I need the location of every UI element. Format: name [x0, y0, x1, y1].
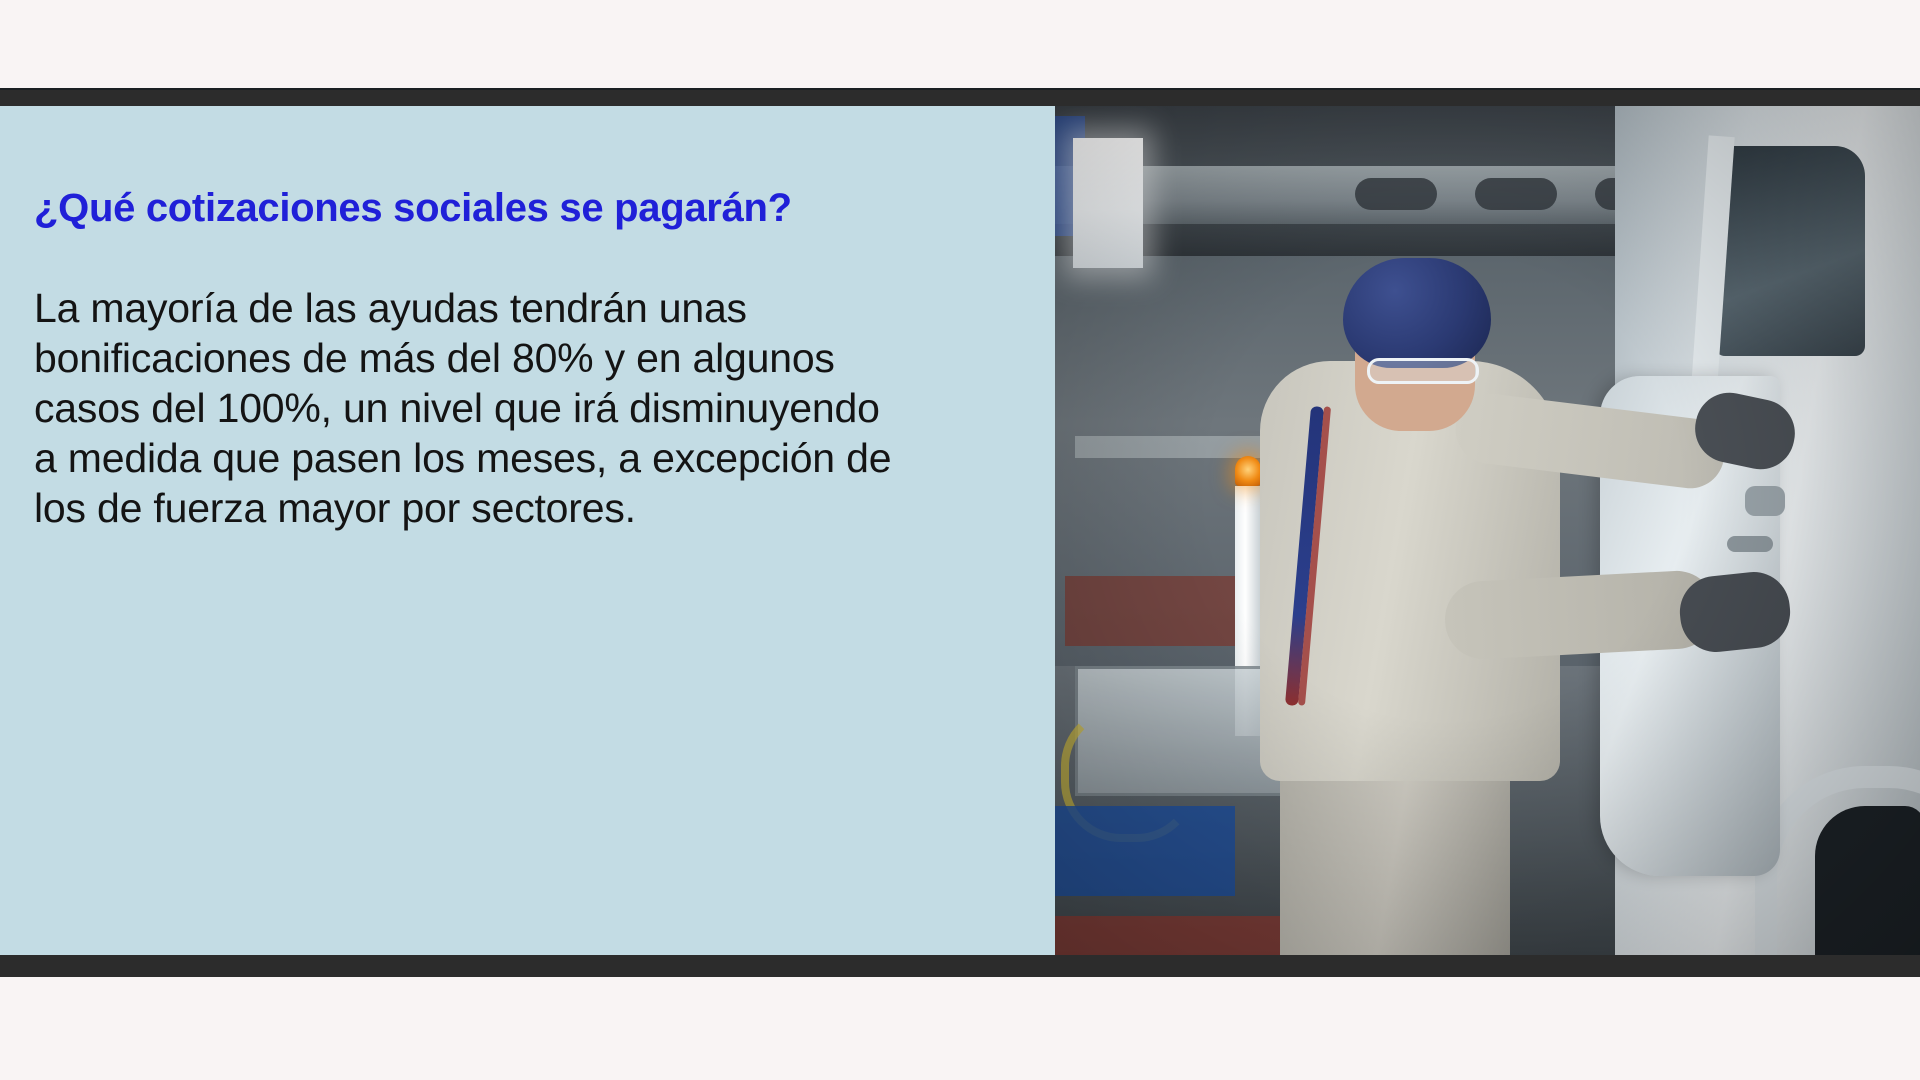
body-line-2: bonificaciones de más del 80% y en algun…: [34, 333, 1015, 383]
letterbox-bar-bottom: [0, 955, 1920, 977]
factory-worker-photo: [1055, 106, 1920, 955]
text-card-panel: ¿Qué cotizaciones sociales se pagarán? L…: [0, 106, 1055, 955]
slide-content-area: ¿Qué cotizaciones sociales se pagarán? L…: [0, 106, 1920, 955]
body-line-4: a medida que pasen los meses, a excepció…: [34, 433, 1015, 483]
body-line-5: los de fuerza mayor por sectores.: [34, 483, 1015, 533]
video-player-screen: ¿Qué cotizaciones sociales se pagarán? L…: [0, 0, 1920, 1080]
slide-body-text: La mayoría de las ayudas tendrán unas bo…: [34, 283, 1015, 533]
body-line-1: La mayoría de las ayudas tendrán unas: [34, 283, 1015, 333]
page-top-margin: [0, 0, 1920, 88]
body-line-3: casos del 100%, un nivel que irá disminu…: [34, 383, 1015, 433]
letterbox-bar-top: [0, 88, 1920, 106]
photo-vignette: [1055, 106, 1920, 955]
page-bottom-margin: [0, 977, 1920, 1080]
slide-headline: ¿Qué cotizaciones sociales se pagarán?: [34, 186, 1015, 231]
